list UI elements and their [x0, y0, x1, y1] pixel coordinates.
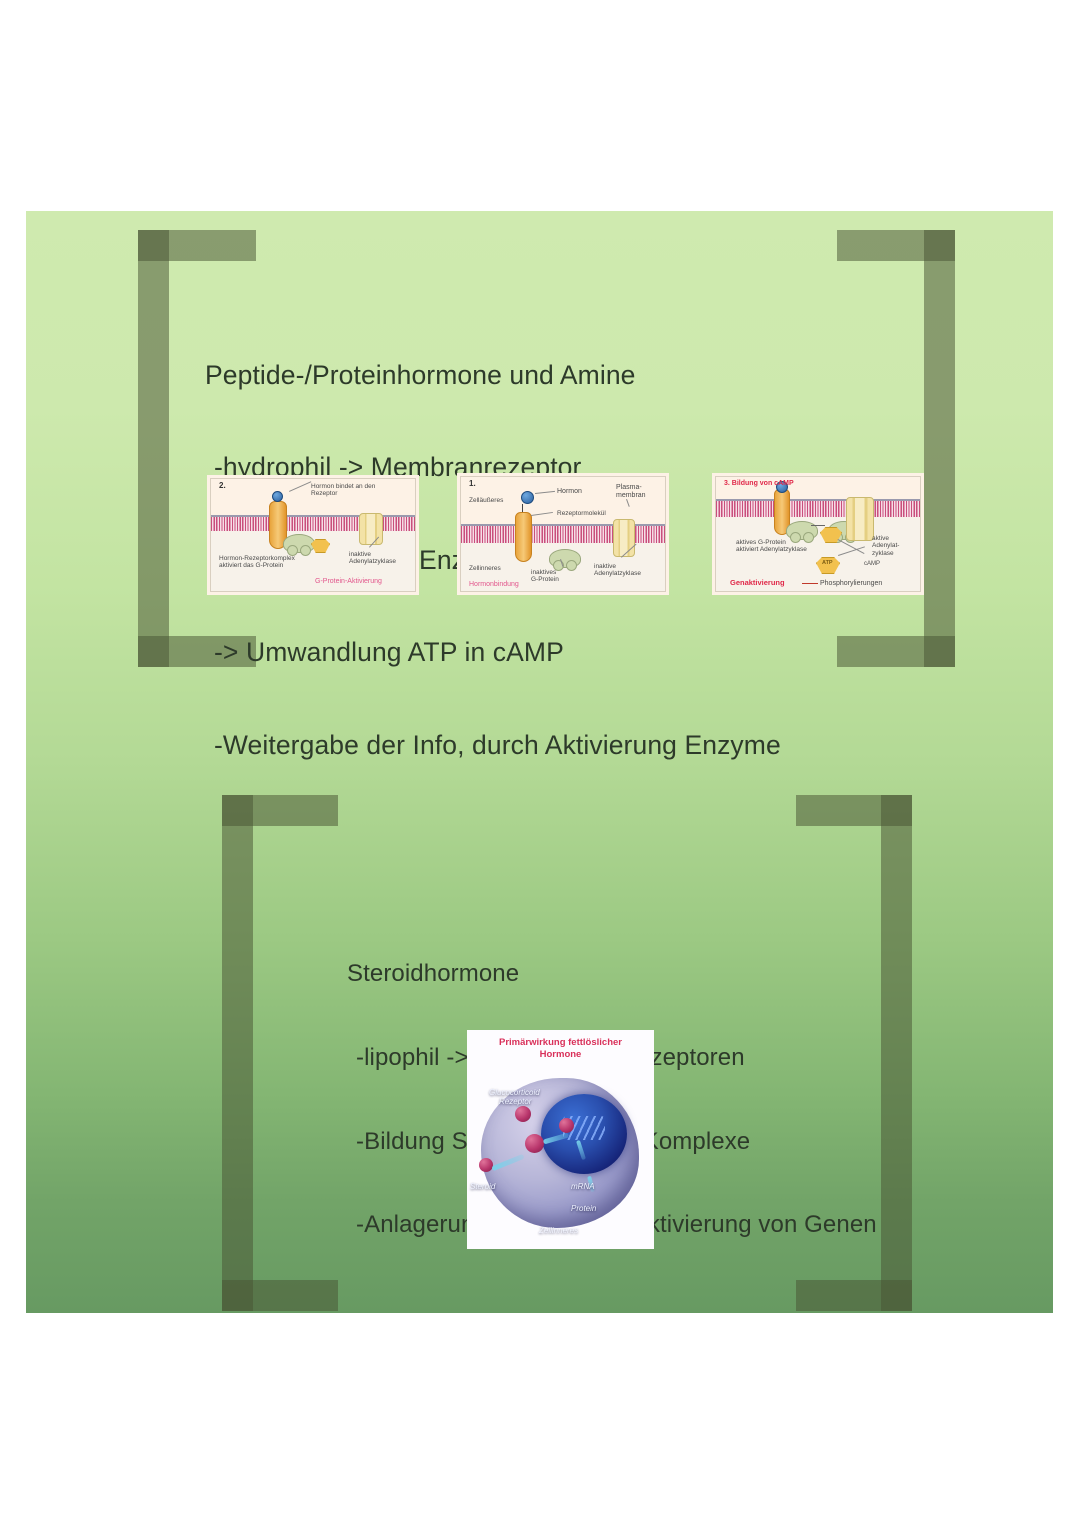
figure1-footer: G-Protein-Aktivierung	[315, 578, 382, 586]
bracket-lower-left-vertical	[222, 795, 253, 1311]
label-plasma-membrane: Plasma-membran	[616, 484, 646, 500]
label-mrna: mRNA	[571, 1182, 595, 1191]
g-protein	[283, 534, 315, 553]
slide-canvas: Peptide-/Proteinhormone und Amine -hydro…	[26, 211, 1053, 1313]
label-steroid: Steroid	[470, 1182, 495, 1191]
label-hormone-receptor-complex: Hormon-Rezeptorkomplexaktiviert das G-Pr…	[219, 555, 295, 570]
figure2-footer: Hormonbindung	[469, 581, 519, 589]
active-g-protein	[786, 521, 818, 540]
inactive-adenylate-cyclase	[613, 519, 635, 557]
figure4-canvas: Primärwirkung fettlöslicher Hormone Gluc…	[467, 1030, 654, 1249]
text-line: -Weitergabe der Info, durch Aktivierung …	[205, 730, 781, 761]
hormone-molecule	[521, 491, 534, 504]
figure2-canvas: 1. Zelläußeres Hormon Plasma-membran Rez…	[457, 473, 669, 595]
figure3-footer-right: Phosphorylierungen	[820, 580, 882, 588]
steroid-receptor-complex-nucleus	[559, 1118, 574, 1133]
text-line: Steroidhormone	[347, 960, 877, 988]
bracket-lower-left-bottom-horizontal	[222, 1280, 338, 1311]
binding-arrow	[522, 504, 523, 512]
figure3-canvas: 3. Bildung von cAMP aktives G-Proteinakt…	[712, 473, 924, 595]
label-camp: cAMP	[864, 561, 880, 568]
hormone-molecule	[272, 491, 283, 502]
figure2-number: 1.	[469, 480, 476, 489]
figure-lipophilic-hormone-action: Primärwirkung fettlöslicher Hormone Gluc…	[467, 1030, 654, 1249]
label-inactive-cyclase: inaktiveAdenylatzyklase	[594, 563, 641, 578]
label-receptor-molecule: Rezeptormolekül	[557, 510, 606, 517]
label-hormone-binds: Hormon bindet an denRezeptor	[311, 483, 375, 498]
text-line: -> Umwandlung ATP in cAMP	[205, 637, 781, 668]
figure3-footer-left: Genaktivierung	[730, 579, 785, 587]
adenylate-cyclase	[359, 513, 383, 545]
label-active-g-protein: aktives G-Proteinaktiviert Adenylatzykla…	[736, 539, 807, 554]
bracket-lower-right-vertical	[881, 795, 912, 1311]
label-atp: ATP	[822, 560, 833, 566]
active-adenylate-cyclase	[846, 497, 874, 541]
label-intracellular: Zellinneres	[469, 565, 501, 572]
label-cytoplasm: Zellinneres	[539, 1226, 578, 1235]
label-protein: Protein	[571, 1204, 596, 1213]
label-inactive-g-protein: inaktivesG-Protein	[531, 569, 559, 584]
steroid-receptor-complex-1	[515, 1106, 531, 1122]
bracket-top-left-vertical	[138, 230, 169, 667]
activation-arrow	[811, 525, 825, 526]
figure1-canvas: Hormon bindet an denRezeptor 2. inaktive…	[207, 475, 419, 595]
figure-hormone-binding: 1. Zelläußeres Hormon Plasma-membran Rez…	[457, 473, 669, 595]
label-extracellular: Zelläußeres	[469, 497, 503, 504]
label-active-cyclase: aktiveAdenylat-zyklase	[872, 535, 899, 557]
figure2-inner: 1. Zelläußeres Hormon Plasma-membran Rez…	[460, 476, 666, 592]
text-line: Peptide-/Proteinhormone und Amine	[205, 360, 781, 391]
figure3-caption: 3. Bildung von cAMP	[724, 480, 794, 488]
label-hormone: Hormon	[557, 488, 582, 496]
figure3-inner: 3. Bildung von cAMP aktives G-Proteinakt…	[715, 476, 921, 592]
figure4-title: Primärwirkung fettlöslicher Hormone	[467, 1037, 654, 1061]
steroid-molecule-outside	[479, 1158, 493, 1172]
footer-arrow	[802, 583, 818, 584]
receptor-molecule	[515, 512, 532, 562]
label-receptor: Glucocorticoid Rezeptor	[489, 1088, 540, 1106]
steroid-receptor-complex-2	[525, 1134, 544, 1153]
figure1-inner: Hormon bindet an denRezeptor 2. inaktive…	[210, 478, 416, 592]
inactive-g-protein	[549, 549, 581, 568]
figure-camp-formation: 3. Bildung von cAMP aktives G-Proteinakt…	[712, 473, 924, 595]
bracket-top-right-vertical	[924, 230, 955, 667]
figure-g-protein-activation: Hormon bindet an denRezeptor 2. inaktive…	[207, 475, 419, 595]
figure1-number: 2.	[219, 482, 226, 491]
label-inactive-cyclase: inaktiveAdenylatzyklase	[349, 551, 396, 566]
bracket-bottom-right-horizontal	[837, 636, 955, 667]
